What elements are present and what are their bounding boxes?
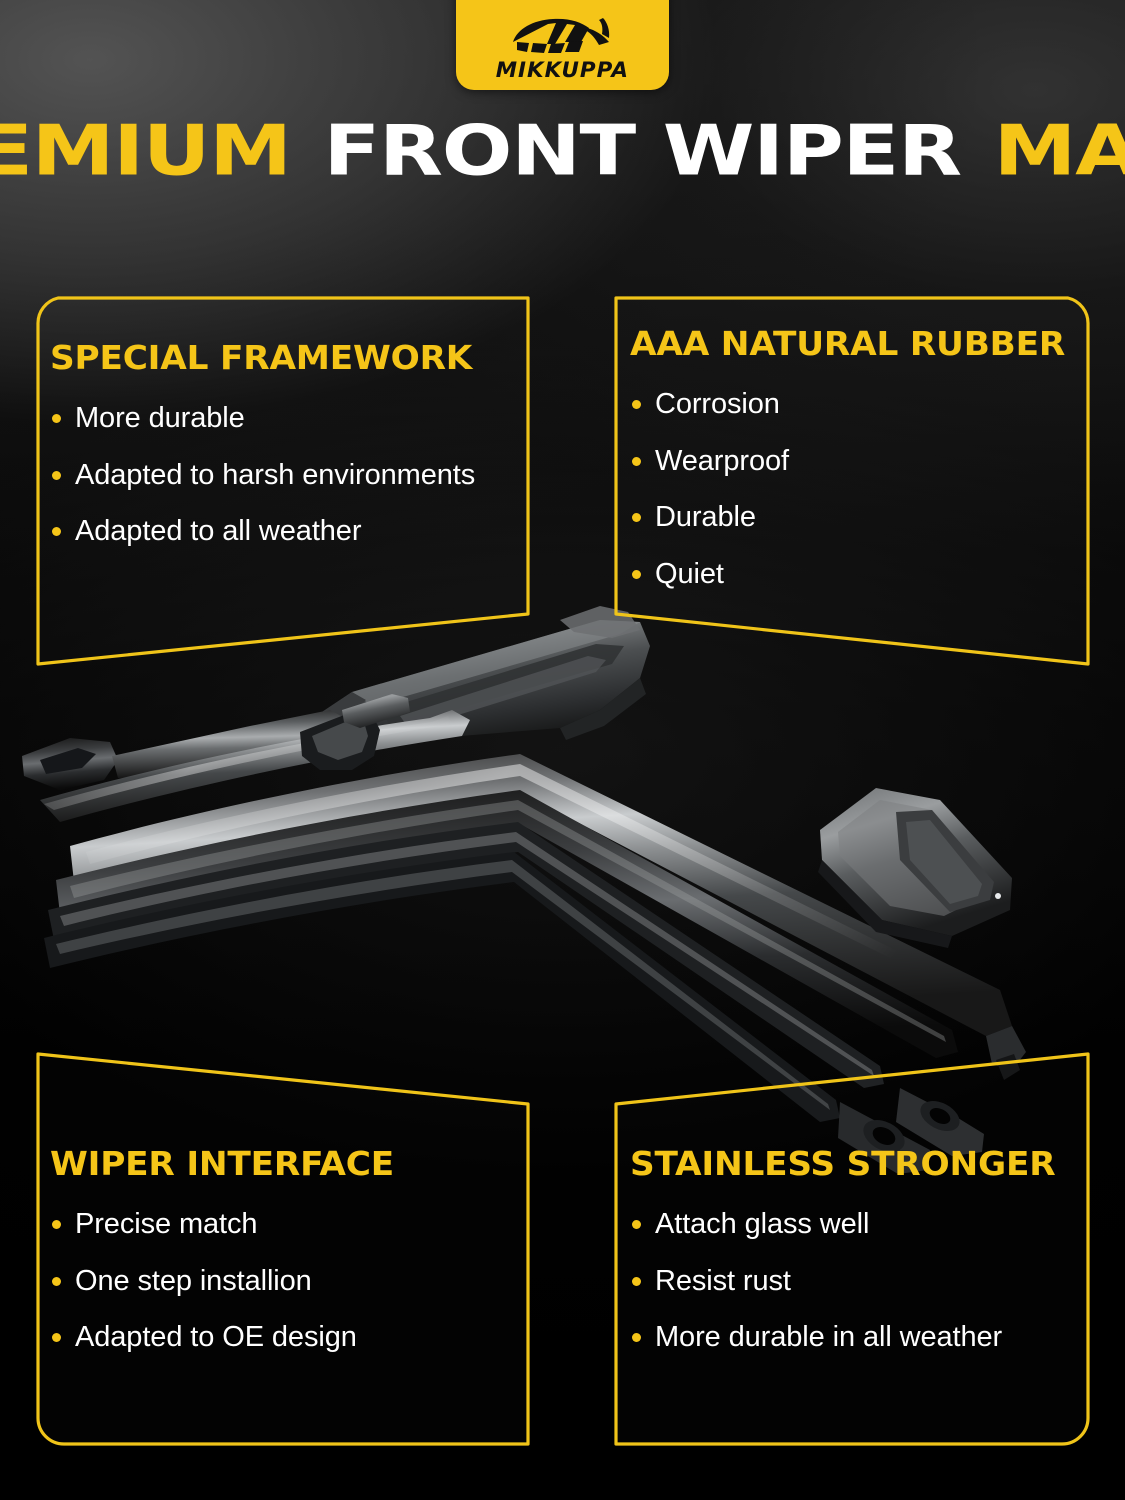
feature-box-stainless-stronger: STAINLESS STRONGER Attach glass well Res… bbox=[610, 1048, 1096, 1448]
list-item: Wearproof bbox=[630, 446, 1086, 477]
list-item: Precise match bbox=[50, 1209, 522, 1240]
feature-list: Corrosion Wearproof Durable Quiet bbox=[630, 389, 1086, 590]
list-item-label: Corrosion bbox=[655, 388, 780, 420]
list-item-label: More durable bbox=[75, 402, 245, 434]
box-title: SPECIAL FRAMEWORK bbox=[50, 338, 541, 377]
feature-list: Attach glass well Resist rust More durab… bbox=[630, 1209, 1086, 1353]
bullet-dot bbox=[632, 1333, 641, 1342]
list-item: Durable bbox=[630, 502, 1086, 533]
title-part-3: MATERIALS bbox=[994, 110, 1125, 192]
list-item-label: More durable in all weather bbox=[655, 1321, 1002, 1353]
list-item: Attach glass well bbox=[630, 1209, 1086, 1240]
bullet-dot bbox=[632, 570, 641, 579]
bullet-dot bbox=[632, 457, 641, 466]
list-item: Resist rust bbox=[630, 1266, 1086, 1297]
bullet-dot bbox=[52, 1333, 61, 1342]
list-item-label: Quiet bbox=[655, 558, 724, 590]
list-item-label: Attach glass well bbox=[655, 1208, 869, 1240]
list-item: One step installion bbox=[50, 1266, 522, 1297]
feature-list: Precise match One step installion Adapte… bbox=[50, 1209, 522, 1353]
box-title: STAINLESS STRONGER bbox=[630, 1144, 1104, 1183]
list-item-label: Durable bbox=[655, 501, 756, 533]
feature-box-special-framework: SPECIAL FRAMEWORK More durable Adapted t… bbox=[32, 296, 532, 676]
list-item: Adapted to OE design bbox=[50, 1322, 522, 1353]
list-item: Adapted to all weather bbox=[50, 516, 522, 547]
list-item-label: Wearproof bbox=[655, 445, 789, 477]
bullet-dot bbox=[632, 1220, 641, 1229]
bullet-dot bbox=[52, 527, 61, 536]
bullet-dot bbox=[52, 471, 61, 480]
mikkuppa-bee-logo-icon bbox=[503, 12, 623, 60]
bullet-dot bbox=[632, 1277, 641, 1286]
list-item: Quiet bbox=[630, 559, 1086, 590]
list-item: More durable bbox=[50, 403, 522, 434]
page-title: PREMIUM FRONT WIPER MATERIALS bbox=[0, 112, 1125, 190]
infographic-page: MIKKUPPA PREMIUM FRONT WIPER MATERIALS S… bbox=[0, 0, 1125, 1500]
bullet-dot bbox=[52, 1220, 61, 1229]
brand-logo: MIKKUPPA bbox=[456, 0, 669, 90]
feature-box-wiper-interface: WIPER INTERFACE Precise match One step i… bbox=[32, 1048, 532, 1448]
list-item: Adapted to harsh environments bbox=[50, 460, 522, 491]
list-item: Corrosion bbox=[630, 389, 1086, 420]
list-item-label: Adapted to harsh environments bbox=[75, 459, 475, 491]
feature-box-aaa-natural-rubber: AAA NATURAL RUBBER Corrosion Wearproof D… bbox=[610, 296, 1096, 676]
title-part-2: FRONT WIPER bbox=[323, 110, 960, 192]
bullet-dot bbox=[632, 400, 641, 409]
list-item-label: Adapted to OE design bbox=[75, 1321, 357, 1353]
list-item-label: Resist rust bbox=[655, 1265, 791, 1297]
list-item-label: Adapted to all weather bbox=[75, 515, 361, 547]
bullet-dot bbox=[52, 414, 61, 423]
box-title: AAA NATURAL RUBBER bbox=[630, 324, 1104, 363]
brand-wordmark: MIKKUPPA bbox=[496, 60, 629, 81]
list-item-label: One step installion bbox=[75, 1265, 312, 1297]
box-title: WIPER INTERFACE bbox=[50, 1144, 541, 1183]
list-item-label: Precise match bbox=[75, 1208, 257, 1240]
feature-list: More durable Adapted to harsh environmen… bbox=[50, 403, 522, 547]
bullet-dot bbox=[52, 1277, 61, 1286]
title-part-1: PREMIUM bbox=[0, 110, 291, 192]
bullet-dot bbox=[632, 513, 641, 522]
list-item: More durable in all weather bbox=[630, 1322, 1086, 1353]
